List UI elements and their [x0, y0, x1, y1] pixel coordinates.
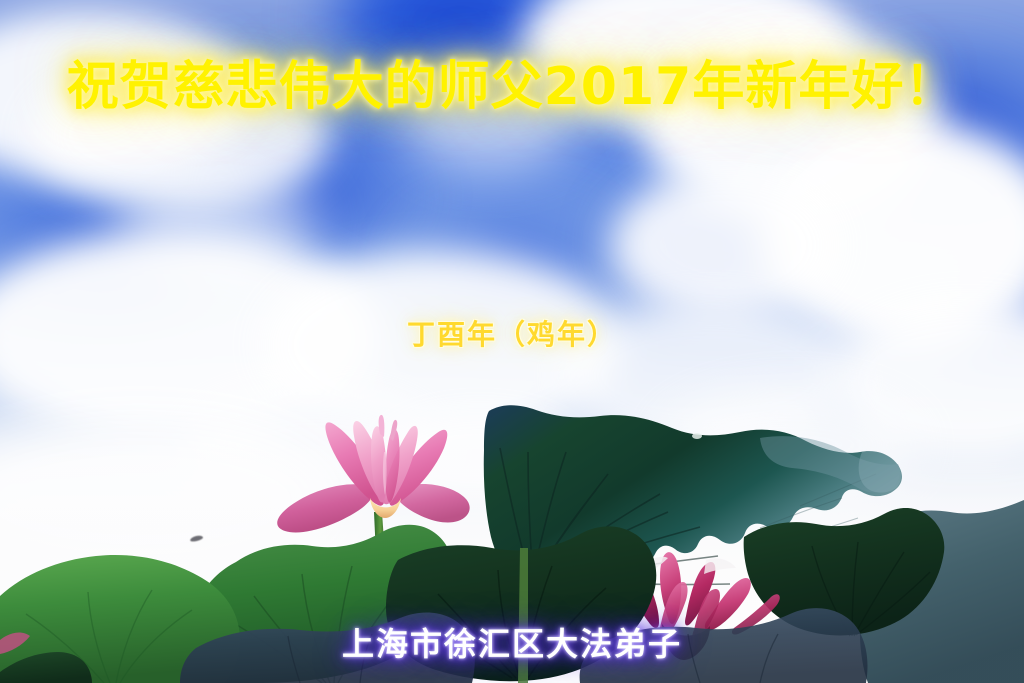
greeting-card: 祝贺慈悲伟大的师父2017年新年好！ 丁酉年（鸡年）	[0, 0, 1024, 683]
lotus-pond-foreground	[0, 0, 1024, 683]
signature-text: 上海市徐汇区大法弟子	[0, 619, 1024, 665]
